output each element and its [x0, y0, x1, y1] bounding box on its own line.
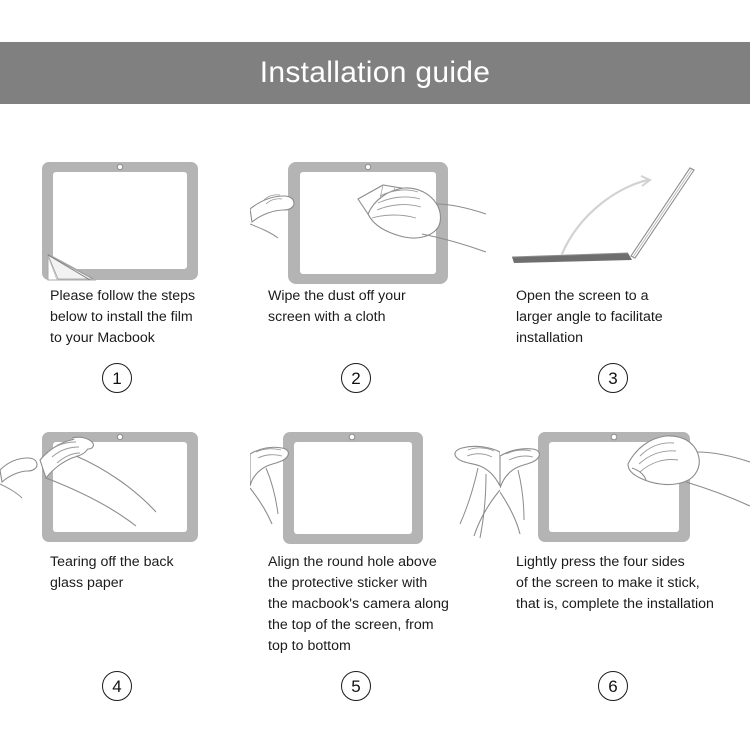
step-2-caption: Wipe the dust off your screen with a clo…	[250, 286, 500, 328]
page-title: Installation guide	[260, 56, 491, 90]
step-4-illustration	[0, 404, 250, 554]
step-3-illustration	[500, 104, 750, 289]
installation-guide-page: Installation guide	[0, 0, 750, 750]
two-hands-aligning-film-icon	[250, 404, 500, 554]
step-number-badge-5: 5	[341, 671, 371, 701]
step-5-caption: Align the round hole above the protectiv…	[250, 552, 500, 657]
step-1-illustration	[0, 104, 250, 289]
step-3-caption: Open the screen to a larger angle to fac…	[500, 286, 750, 349]
step-2-illustration	[250, 104, 500, 289]
header-banner: Installation guide	[0, 42, 750, 104]
hand-tearing-back-paper-icon	[0, 404, 250, 554]
step-card-2: Wipe the dust off your screen with a clo…	[250, 104, 500, 424]
step-card-1: Please follow the steps below to install…	[0, 104, 250, 424]
step-1-caption: Please follow the steps below to install…	[0, 286, 250, 349]
hand-wiping-screen-icon	[250, 104, 500, 289]
step-card-5: Align the round hole above the protectiv…	[250, 404, 500, 750]
step-5-illustration	[250, 404, 500, 554]
step-card-6: Lightly press the four sides of the scre…	[500, 404, 750, 750]
laptop-open-angle-icon	[500, 104, 750, 289]
steps-grid: Please follow the steps below to install…	[0, 104, 750, 750]
step-card-3: Open the screen to a larger angle to fac…	[500, 104, 750, 424]
step-number-badge-1: 1	[102, 363, 132, 393]
step-number-badge-2: 2	[341, 363, 371, 393]
step-6-caption: Lightly press the four sides of the scre…	[500, 552, 750, 615]
step-number-badge-4: 4	[102, 671, 132, 701]
hands-pressing-screen-edges-icon	[500, 404, 750, 554]
laptop-screen-peeling-film-icon	[0, 104, 250, 289]
step-number-badge-6: 6	[598, 671, 628, 701]
step-number-badge-3: 3	[598, 363, 628, 393]
step-card-4: Tearing off the back glass paper 4	[0, 404, 250, 750]
step-6-illustration	[500, 404, 750, 554]
step-4-caption: Tearing off the back glass paper	[0, 552, 250, 594]
